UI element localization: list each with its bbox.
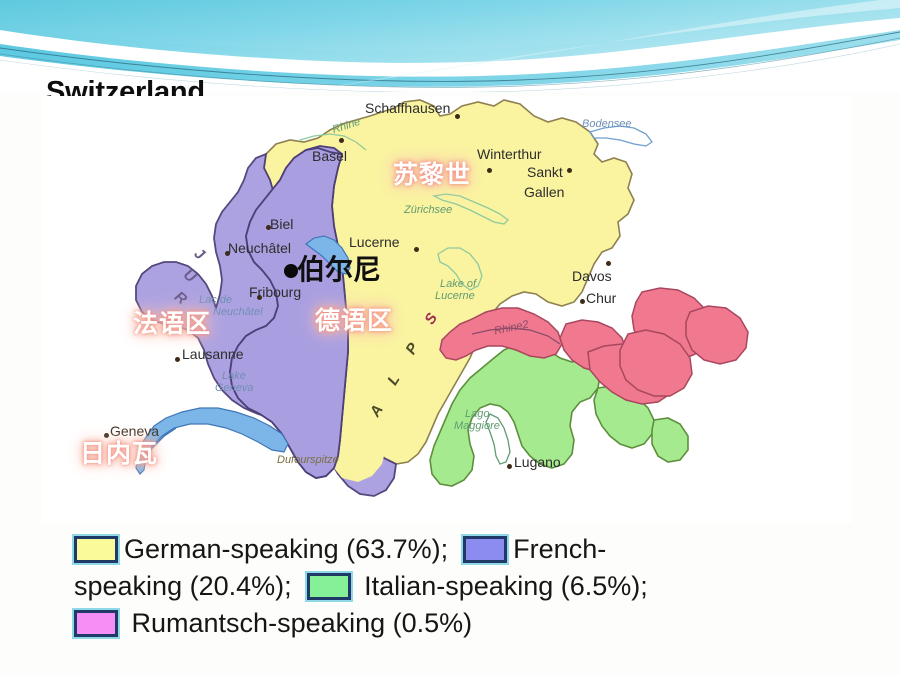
- city-dot-lugano: [507, 464, 512, 469]
- map-label-french-cn: 法语区: [133, 304, 211, 340]
- legend-swatch-italian: [307, 573, 351, 600]
- city-dot-lausanne: [175, 357, 180, 362]
- map-label-zurich-cn: 苏黎世: [393, 155, 471, 191]
- city-dot-fribourg: [257, 295, 262, 300]
- city-dot-sanktgallen: [567, 168, 572, 173]
- legend-line-1: German-speaking (63.7%); French-: [74, 531, 774, 568]
- city-dot-basel: [339, 138, 344, 143]
- bern-marker-dot: [284, 264, 298, 278]
- city-dot-lucerne: [414, 247, 419, 252]
- city-dot-davos: [606, 261, 611, 266]
- legend-label-german: German-speaking (63.7%);: [124, 534, 448, 564]
- map-label-bern-cn: 伯尔尼: [297, 248, 381, 288]
- legend-line-3: Rumantsch-speaking (0.5%): [74, 605, 774, 642]
- city-dot-biel: [266, 225, 271, 230]
- legend-label-french-cont: speaking (20.4%);: [74, 571, 292, 601]
- legend-swatch-french: [463, 536, 507, 563]
- city-dot-neuchatel: [225, 251, 230, 256]
- legend-label-italian: Italian-speaking (6.5%);: [364, 571, 648, 601]
- legend-swatch-rumantsch: [74, 610, 118, 637]
- city-dot-chur: [580, 299, 585, 304]
- city-dot-winterthur: [487, 168, 492, 173]
- city-dot-schaffhausen: [455, 114, 460, 119]
- map-container: Schaffhausen Winterthur Sankt Gallen Bas…: [42, 96, 852, 523]
- legend-swatch-german: [74, 536, 118, 563]
- legend-line-2: speaking (20.4%); Italian-speaking (6.5%…: [74, 568, 774, 605]
- map-label-german-cn: 德语区: [315, 301, 393, 337]
- legend-label-french: French-: [513, 534, 606, 564]
- legend: German-speaking (63.7%); French- speakin…: [74, 531, 774, 642]
- legend-label-rumantsch: Rumantsch-speaking (0.5%): [132, 608, 473, 638]
- map-label-geneva-cn: 日内瓦: [80, 434, 158, 470]
